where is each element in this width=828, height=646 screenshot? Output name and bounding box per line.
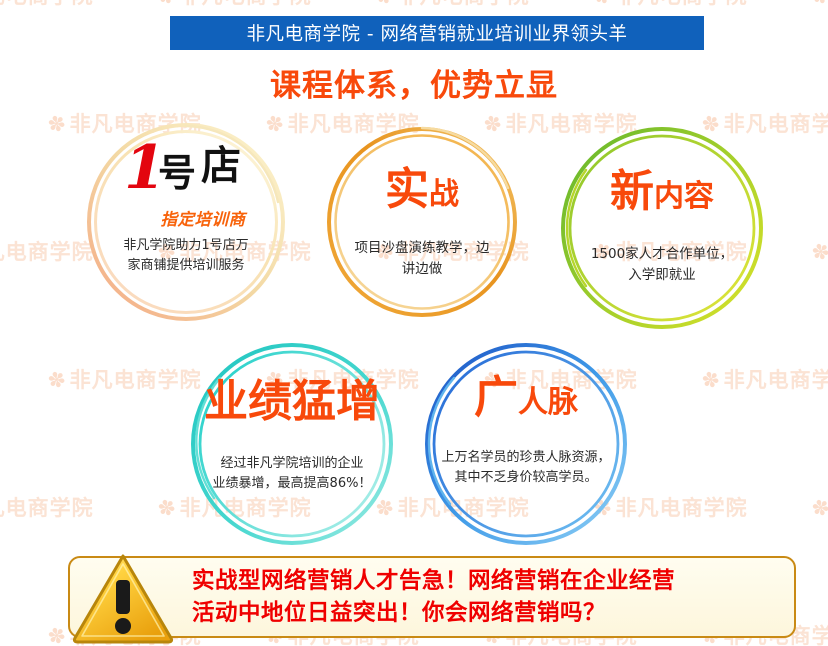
circle-1-body: 非凡学院助力1号店万 家商铺提供培训服务 xyxy=(123,236,248,276)
watermark-label: 非凡电商学院 xyxy=(616,496,748,520)
leaf-icon: ✽ xyxy=(155,494,180,523)
watermark-label: 非凡电商学院 xyxy=(0,0,94,8)
circle-5-heading-small: 人脉 xyxy=(518,385,578,420)
circle-5-content: 广人脉 上万名学员的珍贵人脉资源， 其中不乏身价较高学员。 xyxy=(420,338,632,550)
logo-1haodian: 1 号 店 指定培训商 xyxy=(82,144,290,230)
watermark-label: 非凡电商学院 xyxy=(724,368,828,392)
header-banner-text: 非凡电商学院 - 网络营销就业培训业界领头羊 xyxy=(247,20,628,46)
leaf-icon: ✽ xyxy=(373,0,398,10)
warning-triangle-icon xyxy=(72,552,174,644)
circle-2-heading: 实战 xyxy=(385,168,459,212)
leaf-icon: ✽ xyxy=(699,366,724,395)
watermark-text: ✽非凡电商学院 xyxy=(48,364,202,394)
page-title: 课程体系，优势立显 xyxy=(0,60,828,105)
circle-5-body: 上万名学员的珍贵人脉资源， 其中不乏身价较高学员。 xyxy=(441,448,610,488)
watermark-label: 非凡电商学院 xyxy=(180,0,312,8)
logo-subtitle: 指定培训商 xyxy=(161,206,246,230)
watermark-text: ✽非凡电商学院 xyxy=(376,0,530,10)
circle-2-heading-big: 实 xyxy=(385,164,429,215)
logo-char-dian: 店 xyxy=(201,146,241,186)
feature-circle-2: 实战 项目沙盘演练教学，边 讲边做 xyxy=(322,122,522,322)
circle-3-heading-small: 内容 xyxy=(654,179,714,214)
leaf-icon: ✽ xyxy=(809,238,828,267)
circle-4-content: 业绩猛增 经过非凡学院培训的企业 业绩暴增，最高提高86%！ xyxy=(186,338,398,550)
circle-2-content: 实战 项目沙盘演练教学，边 讲边做 xyxy=(322,122,522,322)
leaf-icon: ✽ xyxy=(809,0,828,10)
leaf-icon: ✽ xyxy=(45,366,70,395)
circle-4-body: 经过非凡学院培训的企业 业绩暴增，最高提高86%！ xyxy=(213,454,372,494)
watermark-text: ✽非凡电商学院 xyxy=(812,0,828,10)
circle-3-heading-big: 新 xyxy=(610,166,654,217)
feature-circle-4: 业绩猛增 经过非凡学院培训的企业 业绩暴增，最高提高86%！ xyxy=(186,338,398,550)
leaf-icon: ✽ xyxy=(45,110,70,139)
watermark-label: 非凡电商学院 xyxy=(398,0,530,8)
watermark-label: 非凡电商学院 xyxy=(70,368,202,392)
header-banner: 非凡电商学院 - 网络营销就业培训业界领头羊 xyxy=(170,16,704,50)
leaf-icon: ✽ xyxy=(809,494,828,523)
feature-circle-1: 1 号 店 指定培训商 非凡学院助力1号店万 家商铺提供培训服务 xyxy=(82,118,290,326)
logo-glyph-row: 1 号 店 xyxy=(106,144,266,204)
circle-3-body: 1500家人才合作单位， 入学即就业 xyxy=(591,244,733,286)
leaf-icon: ✽ xyxy=(591,0,616,10)
watermark-text: ✽非凡电商学院 xyxy=(594,0,748,10)
alert-banner: 实战型网络营销人才告急！网络营销在企业经营 活动中地位日益突出！你会网络营销吗？ xyxy=(68,556,796,638)
watermark-label: 非凡电商学院 xyxy=(616,0,748,8)
watermark-label: 非凡电商学院 xyxy=(0,240,94,264)
logo-char-hao: 号 xyxy=(158,154,196,192)
leaf-icon: ✽ xyxy=(155,0,180,10)
circle-4-heading: 业绩猛增 xyxy=(204,380,380,424)
watermark-text: ✽非凡电商学院 xyxy=(702,364,828,394)
watermark-text: ✽非凡电商学院 xyxy=(158,0,312,10)
leaf-icon: ✽ xyxy=(45,622,70,646)
circle-5-heading-big: 广 xyxy=(474,372,518,423)
circle-4-heading-big: 业绩猛增 xyxy=(204,376,380,427)
watermark-label: 非凡电商学院 xyxy=(0,496,94,520)
circle-5-heading: 广人脉 xyxy=(474,376,578,420)
circle-3-heading: 新内容 xyxy=(610,170,714,214)
feature-circle-3: 新内容 1500家人才合作单位， 入学即就业 xyxy=(556,122,768,334)
alert-banner-text: 实战型网络营销人才告急！网络营销在企业经营 活动中地位日益突出！你会网络营销吗？ xyxy=(192,566,782,630)
watermark-text: ✽非凡电商学院 xyxy=(0,492,94,522)
circle-2-body: 项目沙盘演练教学，边 讲边做 xyxy=(355,238,490,280)
circle-3-content: 新内容 1500家人才合作单位， 入学即就业 xyxy=(556,122,768,334)
watermark-text: ✽非凡电商学院 xyxy=(812,236,828,266)
feature-circle-5: 广人脉 上万名学员的珍贵人脉资源， 其中不乏身价较高学员。 xyxy=(420,338,632,550)
watermark-text: ✽非凡电商学院 xyxy=(0,236,94,266)
circle-2-heading-small: 战 xyxy=(429,177,459,212)
watermark-text: ✽非凡电商学院 xyxy=(0,0,94,10)
watermark-text: ✽非凡电商学院 xyxy=(812,492,828,522)
circle-1-content: 1 号 店 指定培训商 非凡学院助力1号店万 家商铺提供培训服务 xyxy=(82,118,290,326)
